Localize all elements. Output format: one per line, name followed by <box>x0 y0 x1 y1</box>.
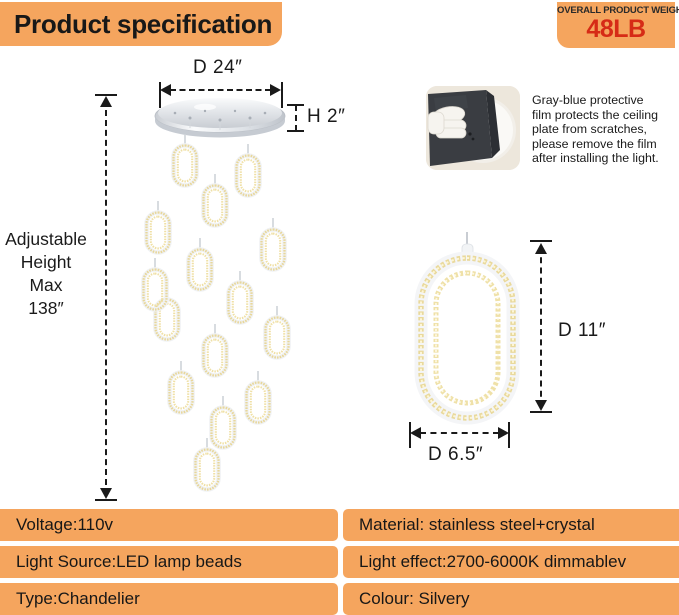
weight-badge-value: 48LB <box>557 16 675 43</box>
chandelier-svg <box>95 80 395 505</box>
film-note-line-4: please remove the film <box>532 137 679 152</box>
adjustable-height-line-1: Adjustable <box>0 228 92 251</box>
specification-table: Voltage:110v Material: stainless steel+c… <box>0 509 679 615</box>
spec-cell-colour: Colour: Silvery <box>343 583 679 615</box>
h2-dash-line <box>295 105 297 131</box>
table-row: Voltage:110v Material: stainless steel+c… <box>0 509 679 541</box>
protective-film-photo <box>426 86 520 170</box>
adjustable-height-line-2: Height <box>0 251 92 274</box>
page-title: Product specification <box>14 9 272 40</box>
table-row: Type:Chandelier Colour: Silvery <box>0 583 679 615</box>
spec-cell-type: Type:Chandelier <box>0 583 338 615</box>
height-dash-line <box>105 100 107 495</box>
ring-width-arrow-left <box>410 427 421 439</box>
ring-height-dash-line <box>540 247 542 407</box>
spec-cell-voltage: Voltage:110v <box>0 509 338 541</box>
ring-width-arrow-right <box>498 427 509 439</box>
spec-cell-light-source: Light Source:LED lamp beads <box>0 546 338 578</box>
spec-cell-light-effect: Light effect:2700-6000K dimmablev <box>343 546 679 578</box>
chandelier-illustration <box>95 80 395 505</box>
d24-cap-right <box>281 82 283 108</box>
adjustable-height-label: Adjustable Height Max 138″ <box>0 228 92 320</box>
adjustable-height-line-4: 138″ <box>0 297 92 320</box>
film-note-line-3: plate from scratches, <box>532 122 679 137</box>
film-note-line-5: after installing the light. <box>532 151 679 166</box>
protective-film-note: Gray-blue protective film protects the c… <box>532 93 679 166</box>
film-note-line-1: Gray-blue protective <box>532 93 679 108</box>
height-arrow-down <box>100 488 112 499</box>
h2-cap-bottom <box>287 130 304 132</box>
d24-arrow-left <box>160 84 171 96</box>
ring-height-arrow-down <box>535 400 547 411</box>
plate-height-label: H 2″ <box>307 106 345 128</box>
d24-arrow-right <box>270 84 281 96</box>
height-cap-bottom <box>95 499 117 501</box>
ring-detail-svg <box>405 232 530 427</box>
d24-dash-line <box>170 89 271 91</box>
ring-width-dash-line <box>420 432 499 434</box>
film-note-line-2: film protects the ceiling <box>532 108 679 123</box>
ceiling-plate <box>155 98 285 138</box>
spec-cell-material: Material: stainless steel+crystal <box>343 509 679 541</box>
page-title-banner: Product specification <box>0 2 282 46</box>
plate-diameter-label: D 24″ <box>193 57 242 79</box>
overall-weight-badge: OVERALL PRODUCT WEIGHT 48LB <box>557 2 675 48</box>
ring-height-label: D 11″ <box>558 320 606 342</box>
ring-width-label: D 6.5″ <box>428 444 483 466</box>
ring-height-cap-top <box>530 240 552 242</box>
adjustable-height-line-3: Max <box>0 274 92 297</box>
table-row: Light Source:LED lamp beads Light effect… <box>0 546 679 578</box>
ring-detail-illustration <box>405 232 530 427</box>
ring-height-cap-bottom <box>530 411 552 413</box>
hanging-rings <box>144 134 289 490</box>
protective-film-photo-svg <box>426 86 520 170</box>
